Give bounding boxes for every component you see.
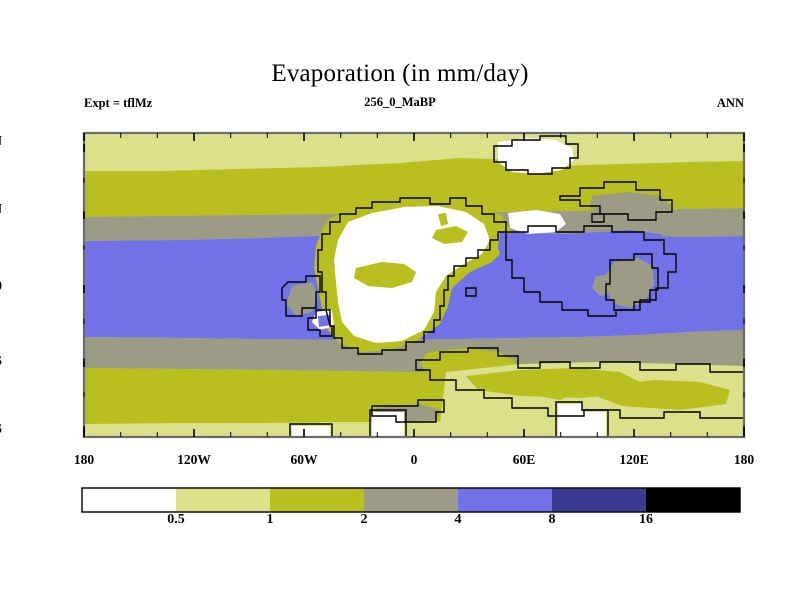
map-plot-area: [84, 133, 744, 437]
colorbar-swatch-1-2: [270, 488, 364, 512]
colorbar: [82, 488, 740, 512]
colorbar-swatch-2-4: [364, 488, 458, 512]
evaporation-map-figure: [0, 0, 800, 600]
colorbar-swatch-4-8: [458, 488, 552, 512]
colorbar-swatch-over-16: [646, 488, 740, 512]
field-antarctic-box-c: [292, 426, 330, 437]
colorbar-swatch-8-16: [552, 488, 646, 512]
colorbar-swatch-under-0.5: [82, 488, 176, 512]
colorbar-swatch-0.5-1: [176, 488, 270, 512]
